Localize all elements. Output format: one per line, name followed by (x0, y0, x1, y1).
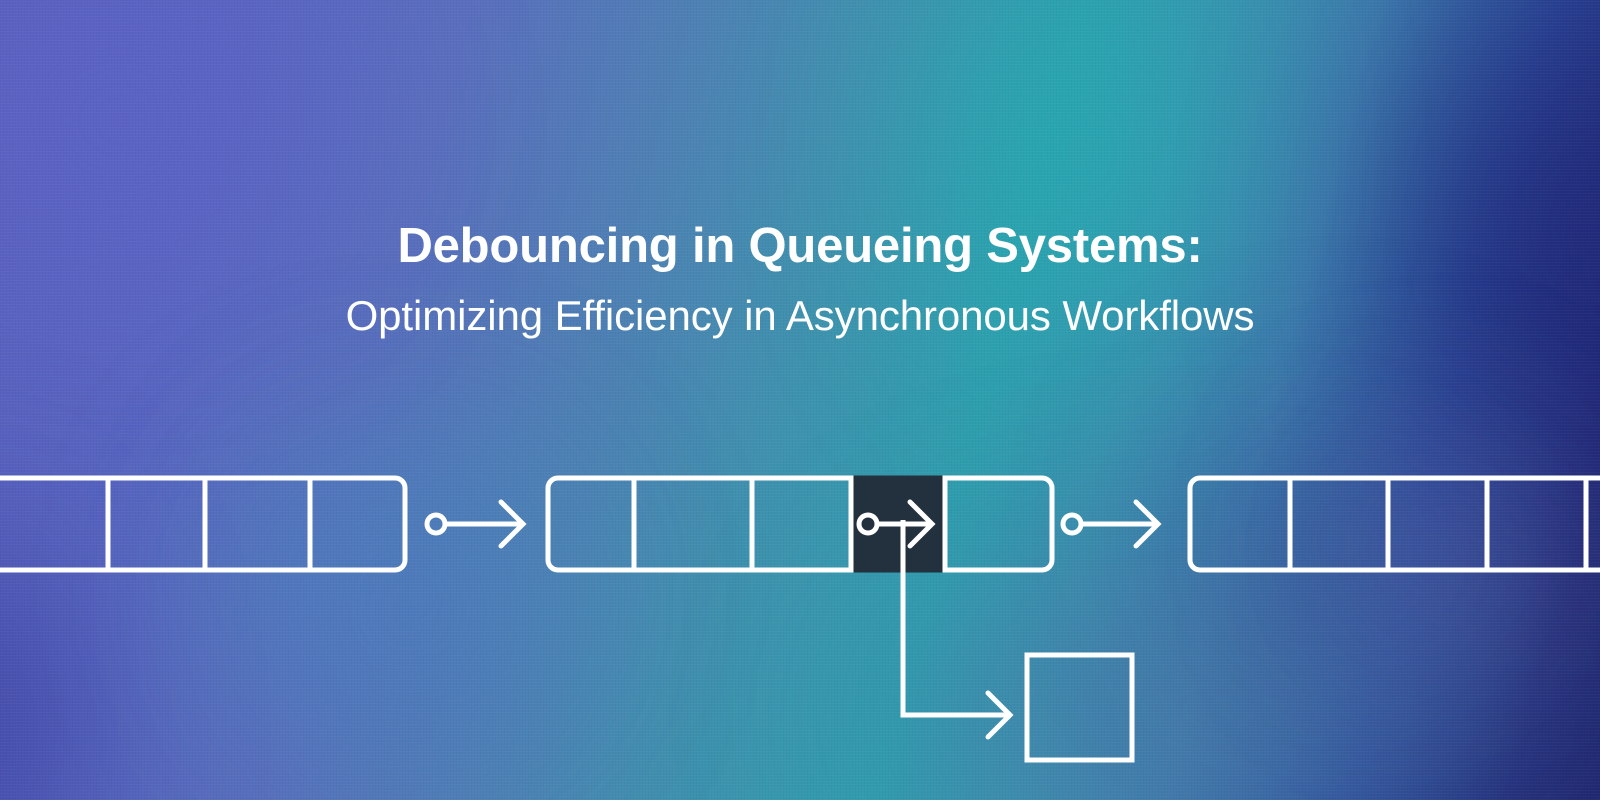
queue-middle-to-queue-right (1063, 502, 1158, 546)
outbound-queue (1190, 478, 1600, 570)
queue-left-to-queue-middle (427, 502, 523, 546)
queue-middle-to-queue-right-tail-dot (1063, 515, 1081, 533)
debounced-task-box (1027, 655, 1132, 760)
page-title: Debouncing in Queueing Systems: (0, 222, 1600, 271)
inbound-queue (0, 478, 405, 570)
debounce-queue-outline (548, 478, 1052, 570)
headline-block: Debouncing in Queueing Systems: Optimizi… (0, 222, 1600, 337)
banner-canvas: Debouncing in Queueing Systems: Optimizi… (0, 0, 1600, 800)
queue-left-to-queue-middle-tail-dot (427, 515, 445, 533)
debounce-queue (548, 478, 1052, 570)
page-subtitle: Optimizing Efficiency in Asynchronous Wo… (0, 271, 1600, 337)
outbound-queue-outline (1190, 478, 1600, 570)
queue-pipeline-diagram (0, 0, 1600, 800)
